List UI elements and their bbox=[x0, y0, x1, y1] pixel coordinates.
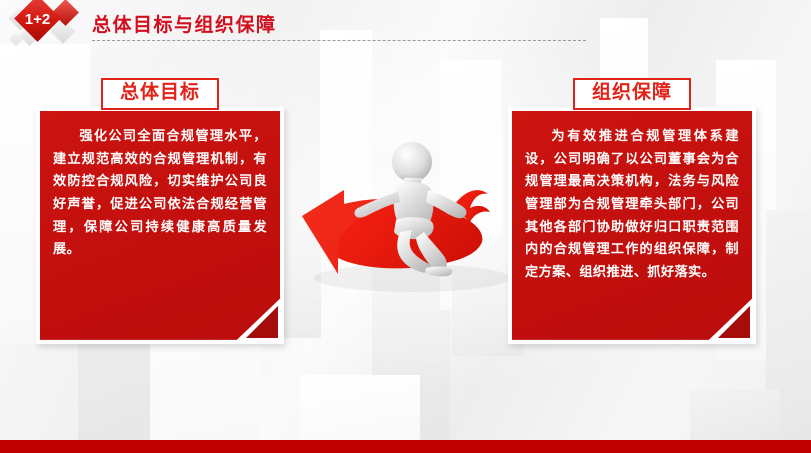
card-title-overall-goal: 总体目标 bbox=[101, 78, 219, 110]
page-title: 总体目标与组织保障 bbox=[92, 10, 277, 37]
card-inner-organizational-guarantee: 为有效推进合规管理体系建设，公司明确了以公司董事会为合规管理最高决策机构，法务与… bbox=[512, 111, 752, 340]
logo-text: 1+2 bbox=[25, 11, 50, 28]
card-inner-overall-goal: 强化公司全面合规管理水平，建立规范高效的合规管理机制，有效防控合规风险，切实维护… bbox=[40, 111, 280, 340]
person-riding-red-arrow-illustration bbox=[292, 128, 524, 316]
bottom-accent-bar bbox=[0, 440, 811, 453]
slide-header: 1+2 总体目标与组织保障 bbox=[0, 0, 811, 48]
card-title-organizational-guarantee: 组织保障 bbox=[573, 78, 691, 110]
card-body-organizational-guarantee: 为有效推进合规管理体系建设，公司明确了以公司董事会为合规管理最高决策机构，法务与… bbox=[508, 107, 756, 344]
slide-canvas: 1+2 总体目标与组织保障 总体目标 强化公司全面合规管理水平，建立规范高效的合… bbox=[0, 0, 811, 453]
card-body-overall-goal: 强化公司全面合规管理水平，建立规范高效的合规管理机制，有效防控合规风险，切实维护… bbox=[36, 107, 284, 344]
card-organizational-guarantee: 组织保障 为有效推进合规管理体系建设，公司明确了以公司董事会为合规管理最高决策机… bbox=[508, 78, 756, 344]
diamond-logo: 1+2 bbox=[8, 0, 86, 48]
card-text-organizational-guarantee: 为有效推进合规管理体系建设，公司明确了以公司董事会为合规管理最高决策机构，法务与… bbox=[525, 125, 739, 284]
card-text-overall-goal: 强化公司全面合规管理水平，建立规范高效的合规管理机制，有效防控合规风险，切实维护… bbox=[53, 125, 267, 261]
card-overall-goal: 总体目标 强化公司全面合规管理水平，建立规范高效的合规管理机制，有效防控合规风险… bbox=[36, 78, 284, 344]
header-divider bbox=[92, 40, 586, 41]
